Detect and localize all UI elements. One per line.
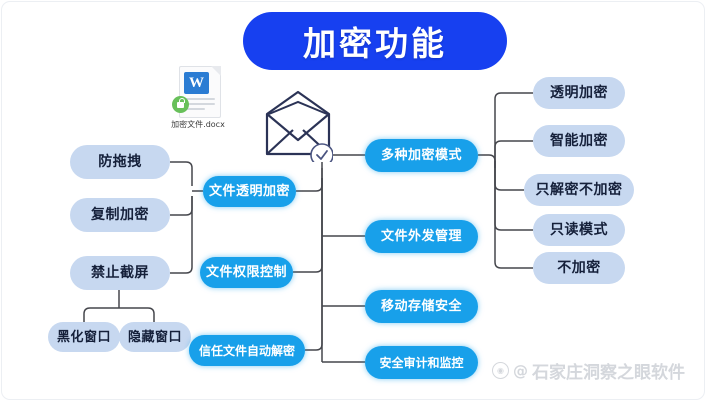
node-no-encryption[interactable]: 不加密 [533, 252, 625, 284]
file-name-label: 加密文件.docx [156, 119, 240, 130]
node-file-permission-control[interactable]: 文件权限控制 [200, 257, 293, 288]
node-anti-drag[interactable]: 防拖拽 [70, 145, 170, 179]
watermark-text: 石家庄洞察之眼软件 [532, 358, 685, 383]
envelope-icon [263, 90, 333, 162]
node-removable-storage-security[interactable]: 移动存储安全 [365, 290, 478, 323]
node-transparent-encryption[interactable]: 透明加密 [533, 77, 625, 109]
node-blackout-window[interactable]: 黑化窗口 [48, 322, 120, 352]
node-file-transparent-encryption[interactable]: 文件透明加密 [203, 176, 296, 207]
node-decrypt-only[interactable]: 只解密不加密 [524, 174, 634, 206]
page-title: 加密功能 [243, 12, 507, 70]
node-trusted-file-auto-decrypt[interactable]: 信任文件自动解密 [189, 335, 305, 366]
node-block-screenshot[interactable]: 禁止截屏 [70, 256, 170, 290]
node-copy-encrypt[interactable]: 复制加密 [70, 198, 170, 232]
lock-icon [172, 96, 189, 113]
text-line [185, 103, 215, 105]
node-read-only-mode[interactable]: 只读模式 [533, 214, 625, 246]
check-badge-icon [311, 144, 333, 162]
text-line [185, 98, 215, 100]
watermark: ◉ @ 石家庄洞察之眼软件 [492, 358, 685, 383]
node-smart-encryption[interactable]: 智能加密 [533, 125, 625, 157]
node-multiple-encryption-modes[interactable]: 多种加密模式 [365, 139, 478, 172]
node-hide-window[interactable]: 隐藏窗口 [119, 322, 191, 352]
node-security-audit-monitoring[interactable]: 安全审计和监控 [365, 346, 478, 379]
mindmap-canvas: 加密功能 W 加密文件.docx 防拖拽 复制加密 禁止截屏 黑化窗口 隐藏窗 [0, 0, 706, 401]
word-icon: W [184, 72, 209, 94]
encrypted-file-icon: W 加密文件.docx [160, 66, 236, 128]
watermark-logo-icon: ◉ [492, 362, 509, 379]
watermark-at-symbol: @ [513, 362, 528, 380]
node-outgoing-file-management[interactable]: 文件外发管理 [365, 220, 478, 253]
page-fold-icon [211, 66, 221, 76]
